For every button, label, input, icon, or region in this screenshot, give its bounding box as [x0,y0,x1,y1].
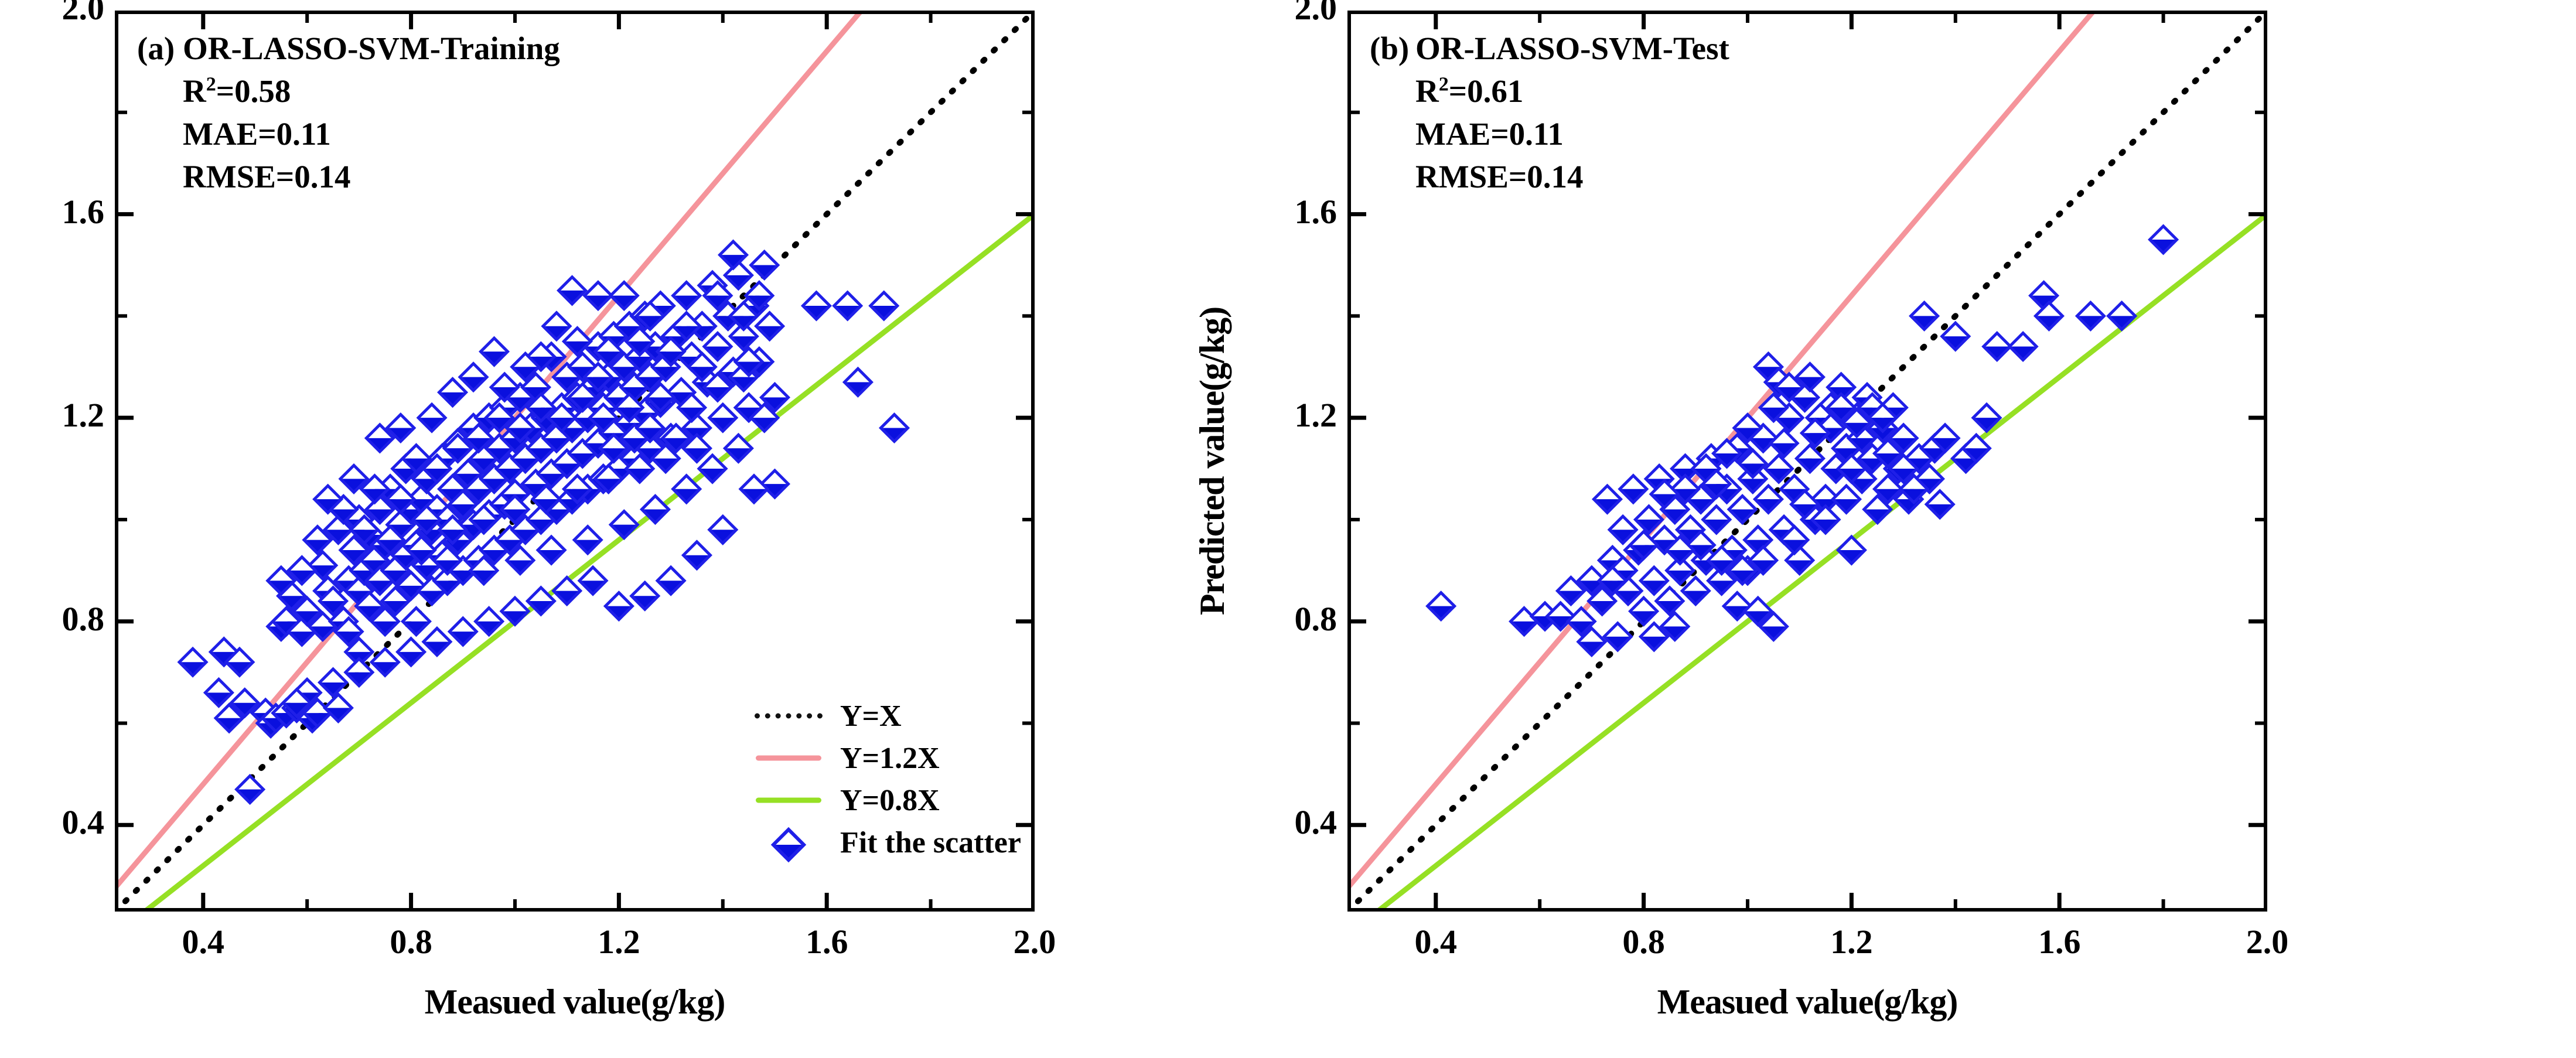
x-tick-label-a-4: 2.0 [994,922,1076,961]
x-tick-label-a-2: 1.2 [578,922,660,961]
legend: Y=XY=1.2XY=0.8XFit the scatter [753,695,1021,864]
legend-key-wrap-3 [753,821,824,864]
y-tick-label-a-4: 2.0 [16,0,104,28]
x-axis-label-b: Measued value(g/kg) [1657,982,1958,1022]
stat-mae-b: MAE=0.11 [1415,112,1729,155]
legend-item-3[interactable]: Fit the scatter [753,821,1021,864]
y-tick-label-a-2: 1.2 [16,395,104,435]
scatter-series-b [1428,226,2177,655]
panel-tag-a: (a) [137,27,183,70]
legend-item-0[interactable]: Y=X [753,695,1021,737]
x-tick-label-b-1: 0.8 [1603,922,1685,961]
figure-root: (a)OR-LASSO-SVM-TrainingR2=0.58MAE=0.11R… [0,0,2576,1058]
panel-title-a: (a)OR-LASSO-SVM-Training [137,27,560,70]
x-tick-label-b-3: 1.6 [2018,922,2100,961]
legend-key-scatter-marker [753,821,824,864]
x-tick-label-a-0: 0.4 [162,922,244,961]
x-tick-label-b-2: 1.2 [1810,922,1892,961]
legend-item-1[interactable]: Y=1.2X [753,737,1021,779]
y-tick-label-a-1: 0.8 [16,599,104,639]
x-axis-label-a: Measued value(g/kg) [425,982,725,1022]
legend-key-wrap-2 [753,779,824,821]
legend-label-3: Fit the scatter [840,825,1021,860]
stat-mae-a: MAE=0.11 [183,112,560,155]
x-tick-label-a-1: 0.8 [370,922,452,961]
stat-r2-a: R2=0.58 [183,70,560,112]
x-tick-label-b-4: 2.0 [2226,922,2308,961]
legend-key-wrap-1 [753,737,824,779]
legend-label-1: Y=1.2X [840,741,940,776]
annotation-block-a: (a)OR-LASSO-SVM-TrainingR2=0.58MAE=0.11R… [137,27,560,199]
y-tick-label-a-0: 0.4 [16,803,104,842]
x-tick-label-b-0: 0.4 [1395,922,1477,961]
stat-r2-b: R2=0.61 [1415,70,1729,112]
legend-item-2[interactable]: Y=0.8X [753,779,1021,821]
panel-tag-b: (b) [1370,27,1415,70]
legend-key-identity-line [755,714,823,719]
legend-key-lower-line [756,798,821,803]
x-tick-label-a-3: 1.6 [786,922,868,961]
y-tick-label-b-1: 0.8 [1249,599,1337,639]
panel-title-b: (b)OR-LASSO-SVM-Test [1370,27,1729,70]
y-axis-label-b: Predicted value(g/kg) [1192,307,1233,615]
y-tick-label-b-2: 1.2 [1249,395,1337,435]
y-tick-label-b-3: 1.6 [1249,192,1337,231]
legend-key-wrap-0 [753,695,824,737]
annotation-block-b: (b)OR-LASSO-SVM-TestR2=0.61MAE=0.11RMSE=… [1370,27,1729,199]
legend-label-2: Y=0.8X [840,783,940,818]
legend-key-upper-line [756,756,821,761]
y-tick-label-a-3: 1.6 [16,192,104,231]
legend-label-0: Y=X [840,699,902,733]
y-tick-label-b-0: 0.4 [1249,803,1337,842]
y-tick-label-b-4: 2.0 [1249,0,1337,28]
stat-rmse-a: RMSE=0.14 [183,155,560,198]
stat-rmse-b: RMSE=0.14 [1415,155,1729,198]
